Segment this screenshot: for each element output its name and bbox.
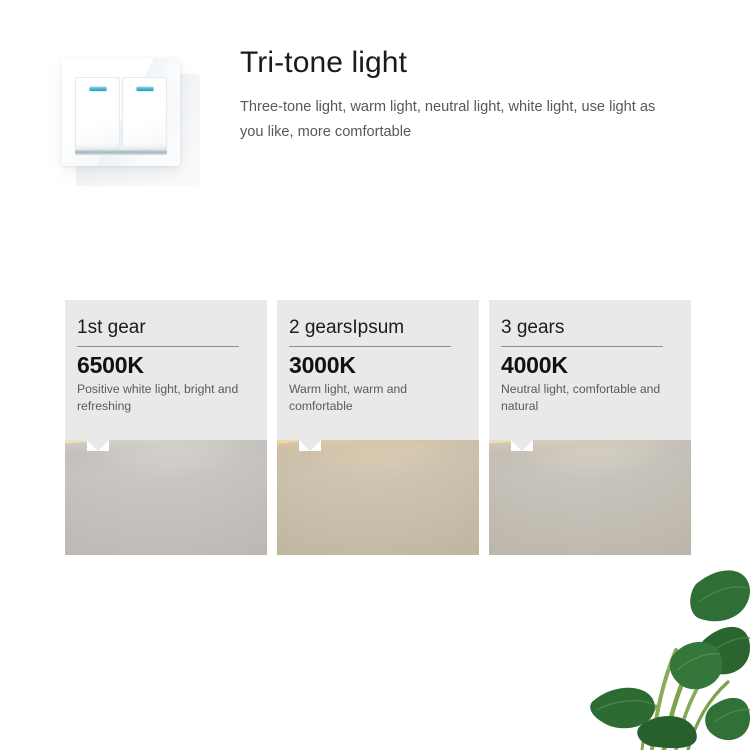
panel-header: 3 gears 4000K Neutral light, comfortable… — [489, 300, 691, 440]
switch-rocker-left[interactable] — [75, 77, 120, 151]
switch-rocker-right[interactable] — [122, 77, 167, 151]
gear-label: 1st gear — [77, 318, 253, 339]
panel-header: 1st gear 6500K Positive white light, bri… — [65, 300, 267, 440]
light-mode-panels: 1st gear 6500K Positive white light, bri… — [65, 300, 692, 695]
light-mode-panel: 3 gears 4000K Neutral light, comfortable… — [489, 300, 691, 695]
page-title: Tri-tone light — [240, 46, 710, 79]
led-indicator-icon — [136, 87, 153, 91]
divider — [289, 346, 451, 347]
kelvin-value: 4000K — [501, 353, 677, 377]
pointer-notch — [511, 440, 533, 451]
switch-rocker-base — [75, 150, 167, 155]
gear-label: 3 gears — [501, 318, 677, 339]
panel-description: Neutral light, comfortable and natural — [501, 381, 677, 416]
divider — [501, 346, 663, 347]
panel-description: Warm light, warm and comfortable — [289, 381, 465, 416]
pointer-notch — [87, 440, 109, 451]
gear-label: 2 gearsIpsum — [289, 318, 465, 339]
panel-header: 2 gearsIpsum 3000K Warm light, warm and … — [277, 300, 479, 440]
kelvin-value: 3000K — [289, 353, 465, 377]
hero-subtitle: Three-tone light, warm light, neutral li… — [240, 95, 670, 145]
divider — [77, 346, 239, 347]
panel-description: Positive white light, bright and refresh… — [77, 381, 253, 416]
led-indicator-icon — [89, 87, 106, 91]
pointer-notch — [299, 440, 321, 451]
light-mode-panel: 2 gearsIpsum 3000K Warm light, warm and … — [277, 300, 479, 695]
kelvin-value: 6500K — [77, 353, 253, 377]
switch-rockers — [75, 77, 167, 151]
hero-text-block: Tri-tone light Three-tone light, warm li… — [240, 46, 710, 145]
light-mode-panel: 1st gear 6500K Positive white light, bri… — [65, 300, 267, 695]
hero-section: Tri-tone light Three-tone light, warm li… — [0, 0, 750, 260]
wall-switch-figure — [62, 58, 190, 176]
